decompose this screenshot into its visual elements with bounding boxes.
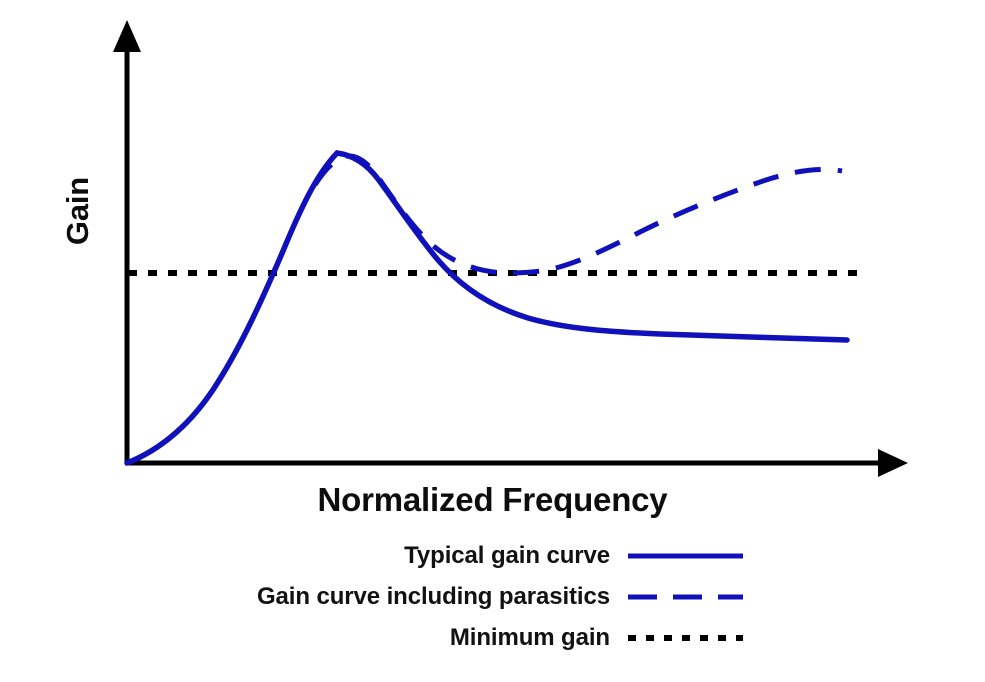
legend-label-minimum-gain: Minimum gain	[150, 624, 628, 652]
chart-legend: Typical gain curve Gain curve including …	[150, 535, 850, 658]
right-arrow-icon	[878, 449, 908, 477]
legend-item-typical-gain-curve: Typical gain curve	[150, 535, 850, 576]
y-axis-label: Gain	[60, 175, 96, 247]
legend-item-parasitic-gain-curve: Gain curve including parasitics	[150, 576, 850, 617]
legend-sample-dotted	[628, 626, 746, 650]
chart-figure: Gain Normalized Frequency Typical gain c…	[0, 0, 985, 682]
legend-item-minimum-gain: Minimum gain	[150, 617, 850, 658]
x-axis-label: Normalized Frequency	[0, 481, 985, 519]
y-axis	[113, 20, 141, 463]
x-axis	[125, 449, 908, 477]
legend-sample-solid	[628, 544, 746, 568]
legend-sample-dashed	[628, 585, 746, 609]
typical-gain-curve	[127, 153, 847, 463]
up-arrow-icon	[113, 20, 141, 52]
parasitic-gain-curve	[127, 156, 842, 463]
legend-label-typical-gain-curve: Typical gain curve	[150, 542, 628, 570]
legend-label-parasitic-gain-curve: Gain curve including parasitics	[150, 583, 628, 611]
